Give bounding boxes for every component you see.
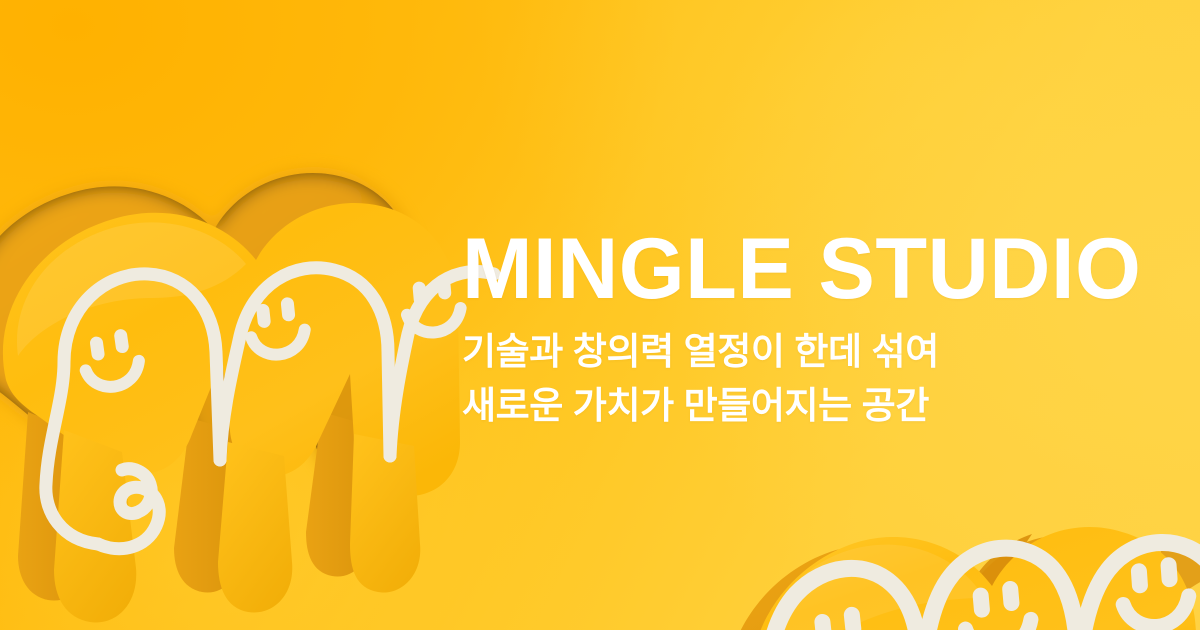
banner-headline: MINGLE STUDIO bbox=[462, 228, 1181, 311]
banner-tagline: 기술과 창의력 열정이 한데 섞여 새로운 가치가 만들어지는 공간 bbox=[462, 325, 1192, 433]
banner-text-block: MINGLE STUDIO 기술과 창의력 열정이 한데 섞여 새로운 가치가 … bbox=[462, 228, 1192, 433]
mingle-logo-bottom-right bbox=[716, 398, 1200, 630]
banner-tagline-line-2: 새로운 가치가 만들어지는 공간 bbox=[462, 379, 1192, 433]
banner-tagline-line-1: 기술과 창의력 열정이 한데 섞여 bbox=[462, 325, 1192, 379]
mingle-logo-left bbox=[0, 112, 482, 532]
promo-banner: MINGLE STUDIO 기술과 창의력 열정이 한데 섞여 새로운 가치가 … bbox=[0, 0, 1200, 630]
